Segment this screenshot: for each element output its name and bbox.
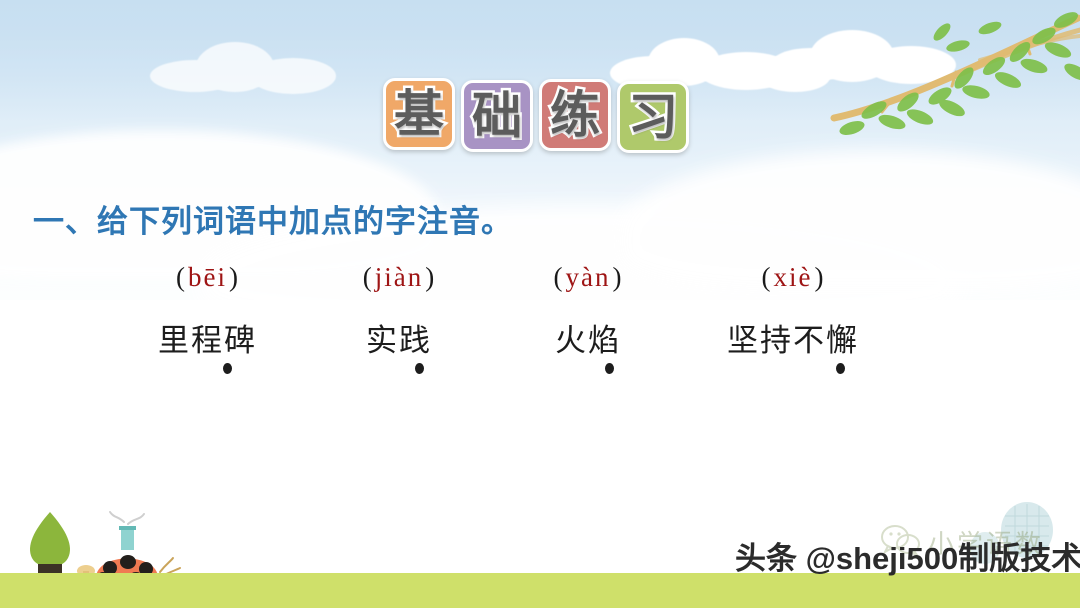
paren-open: ( — [363, 262, 373, 292]
paren-open: ( — [762, 262, 772, 292]
emphasis-dot — [415, 363, 424, 374]
word-text: 坚持不懈 — [683, 315, 903, 360]
word-text: 实践 — [305, 315, 493, 360]
tree-icon — [30, 512, 70, 580]
word-item: (yàn) 火焰 — [493, 262, 683, 379]
word-item: (xiè) 坚持不懈 — [683, 262, 903, 379]
grass-band — [0, 573, 1080, 608]
paren-close: ) — [229, 262, 239, 292]
paren-close: ) — [425, 262, 435, 292]
pinyin-value: bēi — [186, 262, 229, 292]
pinyin-blank: (bēi) — [110, 262, 305, 293]
title-tile-1-char: 基 — [394, 89, 444, 139]
title-tile-3: 练 — [539, 79, 611, 151]
emphasis-dot — [223, 363, 232, 374]
emphasis-dot-row — [305, 363, 493, 379]
emphasis-dot-row — [110, 363, 305, 379]
word-item: (bēi) 里程碑 — [110, 262, 305, 379]
pinyin-value: jiàn — [373, 262, 426, 292]
title-tile-4: 习 — [617, 81, 689, 153]
paren-open: ( — [176, 262, 186, 292]
pinyin-value: xiè — [772, 262, 815, 292]
emphasis-dot — [605, 363, 614, 374]
slide-title: 基 础 练 习 — [383, 78, 689, 153]
paren-close: ) — [815, 262, 825, 292]
emphasis-dot-row — [493, 363, 683, 379]
pinyin-value: yàn — [564, 262, 613, 292]
emphasis-dot-row — [683, 363, 903, 379]
pinyin-blank: (jiàn) — [305, 262, 493, 293]
emphasis-dot — [836, 363, 845, 374]
word-list: (bēi) 里程碑 (jiàn) 实践 (yàn) 火焰 — [110, 262, 910, 379]
toutiao-watermark: 头条 @sheji500制版技术 — [735, 533, 1080, 578]
title-tile-2: 础 — [461, 80, 533, 152]
word-text: 火焰 — [493, 315, 683, 360]
pinyin-blank: (yàn) — [493, 262, 683, 293]
paren-close: ) — [612, 262, 622, 292]
word-text: 里程碑 — [110, 315, 305, 360]
title-tile-2-char: 础 — [472, 91, 522, 141]
branch-decoration — [830, 0, 1080, 140]
pinyin-blank: (xiè) — [683, 262, 903, 293]
title-tile-3-char: 练 — [550, 90, 600, 140]
paren-open: ( — [554, 262, 564, 292]
question-heading: 一、给下列词语中加点的字注音。 — [33, 196, 513, 241]
title-tile-4-char: 习 — [628, 92, 678, 142]
slide-canvas: 基 础 练 习 一、给下列词语中加点的字注音。 (bēi) 里程碑 (jiàn) — [0, 0, 1080, 608]
word-item: (jiàn) 实践 — [305, 262, 493, 379]
title-tile-1: 基 — [383, 78, 455, 150]
